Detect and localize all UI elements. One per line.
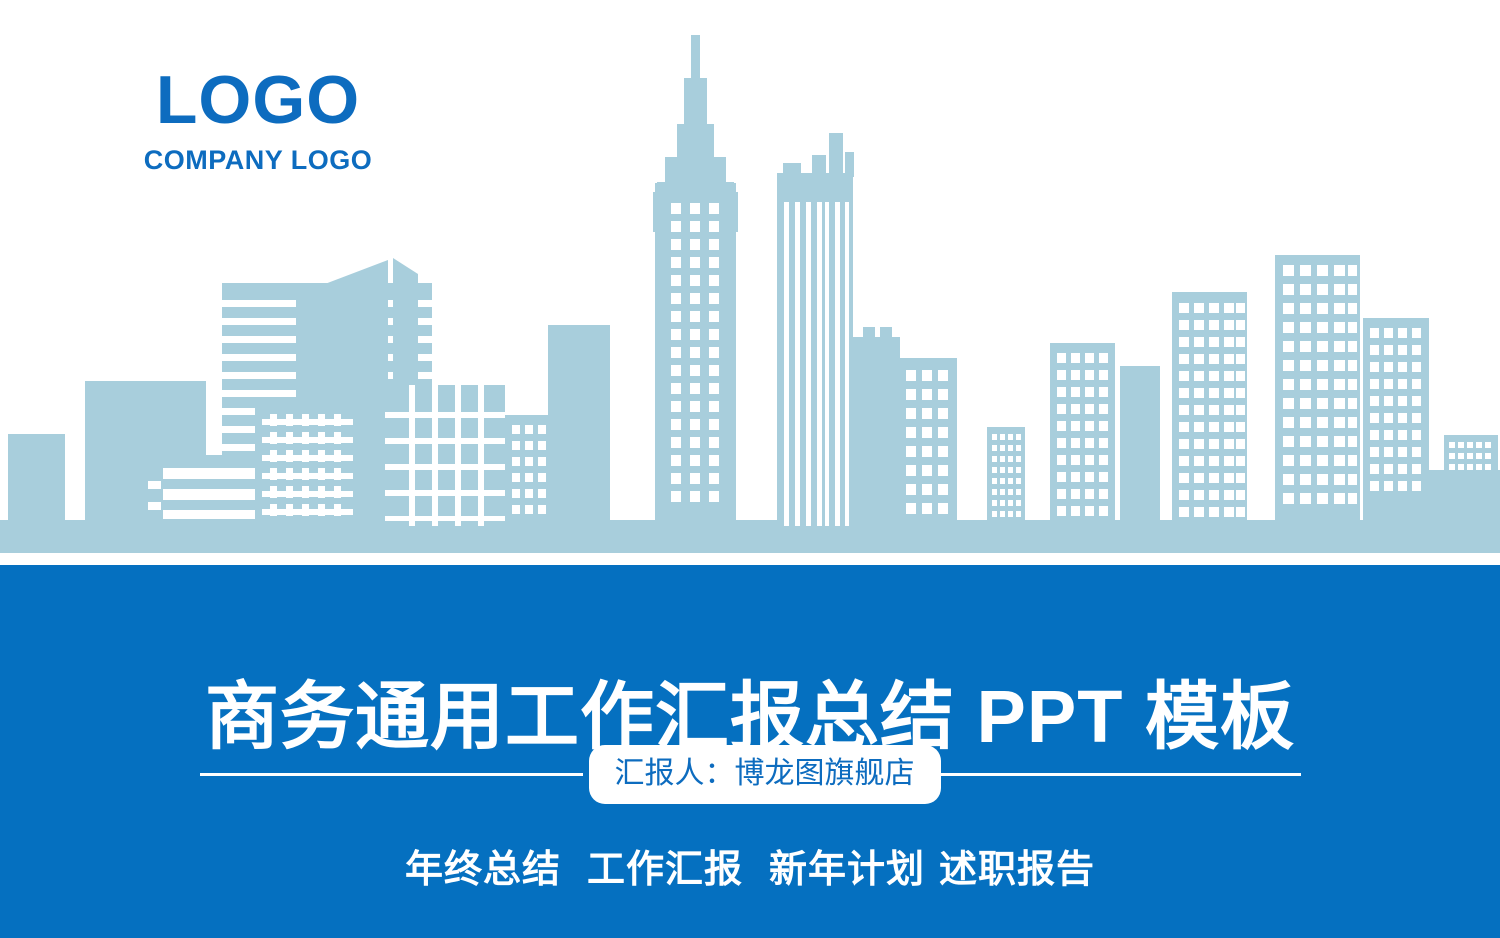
presentation-slide: LOGO COMPANY LOGO 商务通用工作汇报总结 PPT 模板 汇报人：… (0, 0, 1500, 938)
presenter-row: 汇报人：博龙图旗舰店 (0, 744, 1500, 804)
decorative-line-left (200, 773, 583, 776)
presenter-label: 汇报人：博龙图旗舰店 (615, 759, 915, 789)
keyword-item: 工作汇报 (587, 838, 743, 893)
keyword-item: 述职报告 (939, 838, 1095, 893)
keyword-item: 新年计划 (769, 838, 925, 893)
keyword-item: 年终总结 (405, 838, 561, 893)
keyword-list: 年终总结工作汇报新年计划述职报告 (0, 838, 1500, 893)
company-logo: LOGO COMPANY LOGO (88, 66, 428, 174)
logo-subtitle: COMPANY LOGO (88, 147, 428, 174)
decorative-line-right (939, 773, 1301, 776)
logo-wordmark: LOGO (88, 66, 428, 134)
presenter-badge: 汇报人：博龙图旗舰店 (589, 745, 941, 804)
